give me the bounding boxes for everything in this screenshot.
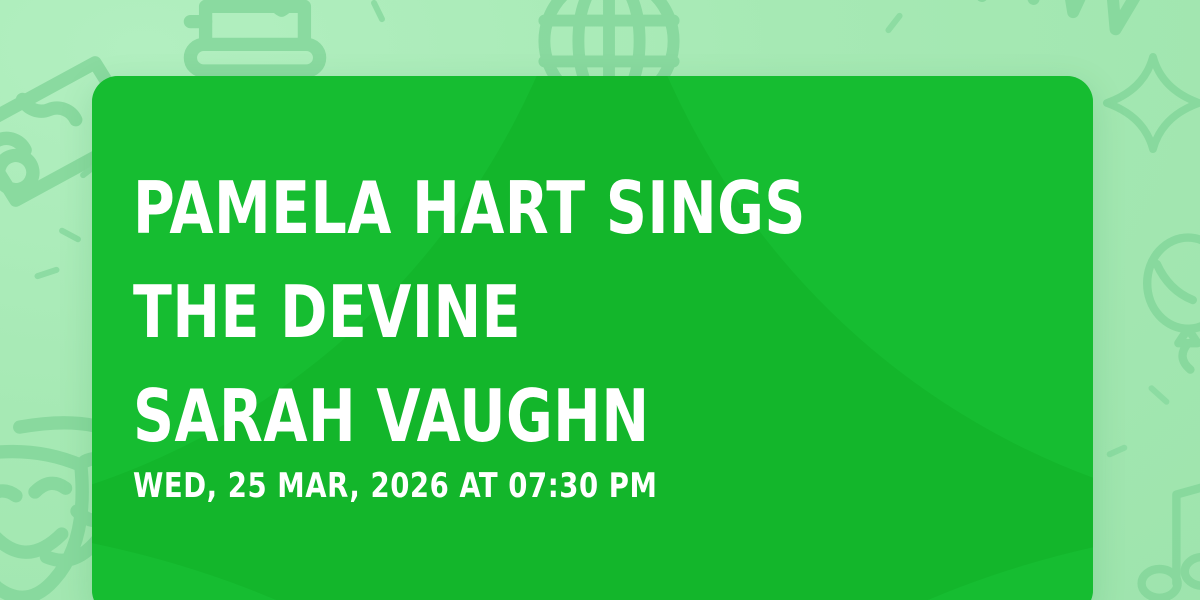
confetti-dash bbox=[884, 12, 904, 35]
sparkle-icon bbox=[1098, 48, 1200, 158]
confetti-dash bbox=[1147, 384, 1170, 406]
confetti-dash bbox=[370, 0, 386, 23]
confetti-dash bbox=[1106, 444, 1129, 458]
event-page: Pamela Hart Sings The Devine Sarah Vaugh… bbox=[0, 0, 1200, 600]
event-datetime: Wed, 25 Mar, 2026 at 07:30 PM bbox=[133, 466, 657, 506]
music-note-icon bbox=[1126, 470, 1200, 600]
card-content: Pamela Hart Sings The Devine Sarah Vaugh… bbox=[133, 76, 1053, 600]
balloon-icon bbox=[1128, 220, 1200, 380]
confetti-dash bbox=[58, 227, 82, 244]
event-card[interactable]: Pamela Hart Sings The Devine Sarah Vaugh… bbox=[92, 76, 1093, 600]
event-title: Pamela Hart Sings The Devine Sarah Vaugh… bbox=[133, 156, 925, 468]
confetti-dash bbox=[34, 266, 61, 280]
